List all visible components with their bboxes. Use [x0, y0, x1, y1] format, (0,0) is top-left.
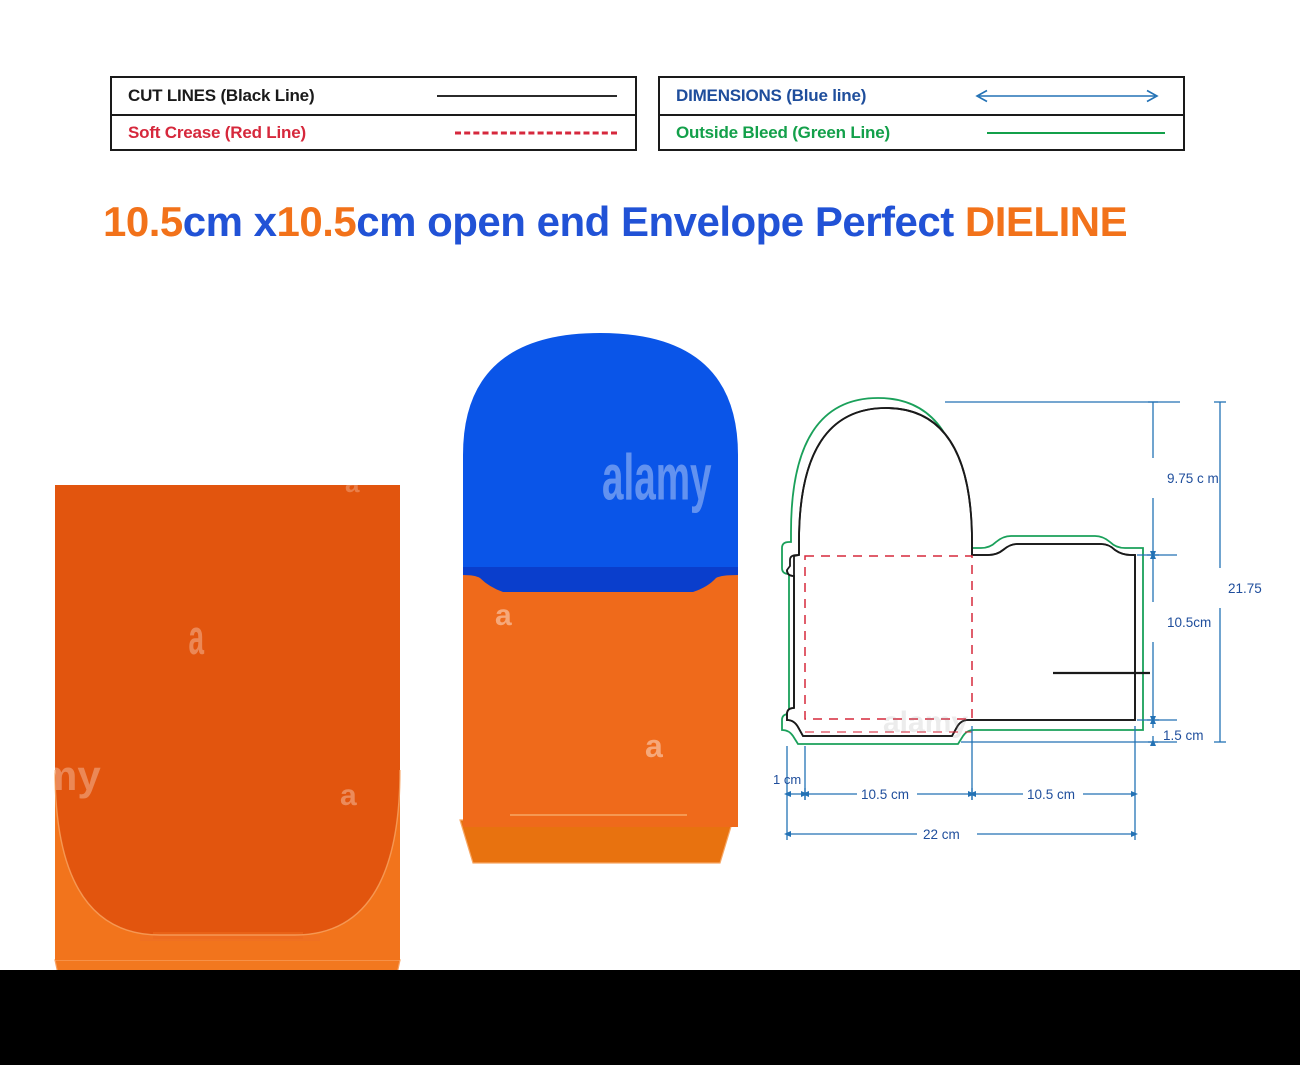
dimension-label-body-height: 10.5cm [1167, 615, 1211, 630]
watermark-text: alamy [883, 706, 968, 739]
front-panel-fill [799, 556, 972, 719]
title-part-2: 10.5 [276, 198, 356, 245]
watermark-text: my [45, 752, 101, 799]
title-part-1: cm x [183, 198, 277, 245]
legend-label-cut-lines: CUT LINES (Black Line) [112, 86, 314, 106]
legend-swatch-crease-line [455, 132, 617, 135]
vertical-dimension-ticks [1147, 402, 1226, 742]
dimension-label-bottom-tab: 1.5 cm [1163, 728, 1204, 743]
legend-row-cut-lines: CUT LINES (Black Line) [112, 78, 635, 114]
alamy-footer-bar: alamy Image ID: 2RN08M0 www.alamy.com [0, 970, 1300, 1065]
dimension-label-total-height: 21.75 cm [1228, 581, 1265, 596]
envelope-front-view-mockup: alamy a a [455, 315, 755, 875]
dimension-label-side-glue: 1 cm [773, 772, 801, 787]
dimension-label-total-width: 22 cm [923, 827, 960, 842]
watermark-letter: a [345, 470, 360, 498]
legend-box-dimensions-bleed: DIMENSIONS (Blue line) Outside Bleed (Gr… [658, 76, 1185, 151]
legend-swatch-bleed-line [987, 132, 1165, 134]
legend-box-cut-crease: CUT LINES (Black Line) Soft Crease (Red … [110, 76, 637, 151]
watermark-letter: a [340, 779, 357, 812]
watermark-text: alamy [602, 441, 712, 514]
watermark-letter: a [495, 599, 512, 632]
legend-label-soft-crease: Soft Crease (Red Line) [112, 123, 306, 143]
title-part-0: 10.5 [103, 198, 183, 245]
page-title: 10.5cm x10.5cm open end Envelope Perfect… [103, 198, 1127, 246]
double-arrow-icon [969, 89, 1165, 103]
title-part-4: DIELINE [965, 198, 1127, 245]
screenshot-root: CUT LINES (Black Line) Soft Crease (Red … [0, 0, 1300, 1065]
back-view-body-panel [55, 485, 400, 935]
horizontal-dimension-group [787, 726, 1135, 840]
back-view-seam-line-2 [140, 935, 320, 941]
legend-swatch-cut-line [437, 95, 617, 97]
artwork-area: a a my a alamy a a [0, 300, 1300, 880]
dimension-label-front-panel: 10.5 cm [861, 787, 909, 802]
legend-label-dimensions: DIMENSIONS (Blue line) [660, 86, 866, 106]
legend-row-dimensions: DIMENSIONS (Blue line) [660, 78, 1183, 114]
legend-label-outside-bleed: Outside Bleed (Green Line) [660, 123, 890, 143]
dimension-label-back-panel: 10.5 cm [1027, 787, 1075, 802]
dimension-label-flap-height: 9.75 c m [1167, 471, 1219, 486]
watermark-letter: a [645, 728, 663, 764]
legend-row-soft-crease: Soft Crease (Red Line) [112, 114, 635, 150]
title-part-3: cm open end Envelope Perfect [356, 198, 965, 245]
horizontal-dimension-arrowheads [784, 791, 1138, 837]
watermark-letter: a [189, 611, 205, 665]
legend-row-outside-bleed: Outside Bleed (Green Line) [660, 114, 1183, 150]
envelope-back-view-mockup: a a my a [45, 470, 445, 1050]
front-view-flap-shadow [463, 567, 738, 593]
dieline-technical-drawing: 9.75 c m 10.5cm 1.5 cm 21.75 cm [765, 380, 1265, 880]
